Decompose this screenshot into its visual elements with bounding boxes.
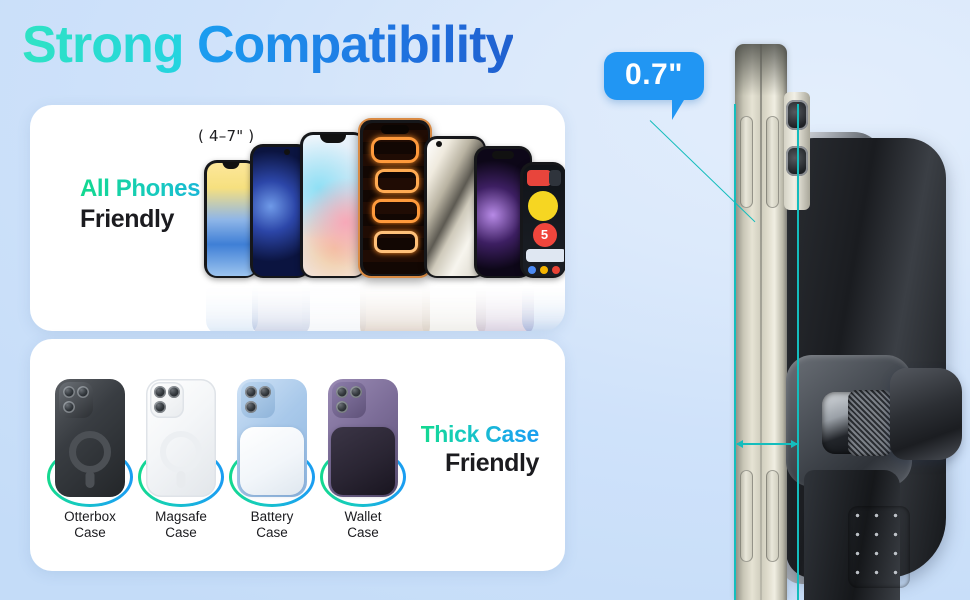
phone-screen: 5 xyxy=(523,165,564,276)
phone-fan-group: 5 xyxy=(190,127,565,302)
phone-screen xyxy=(207,163,256,276)
badge-tail-icon xyxy=(672,100,684,120)
neon-shape xyxy=(375,169,419,193)
app-icon xyxy=(528,266,536,274)
phone-screen xyxy=(303,135,364,276)
camera-lens-icon xyxy=(336,386,348,398)
card-thick-case: Otterbox Case Magsafe Case xyxy=(30,339,565,571)
case-label: Battery Case xyxy=(224,509,320,542)
case-item-battery: Battery Case xyxy=(224,379,320,542)
case-label-line2: Case xyxy=(133,525,229,541)
phone-dynamic-island-icon xyxy=(492,151,514,159)
side-button-icon xyxy=(740,470,753,562)
camera-lens-icon xyxy=(77,386,89,398)
case-label-line2: Case xyxy=(315,525,411,541)
volume-button-icon xyxy=(740,116,753,208)
app-icon xyxy=(540,266,548,274)
case-label-line1: Battery xyxy=(224,509,320,525)
phone-reflection xyxy=(522,286,565,331)
camera-lens-icon xyxy=(63,386,75,398)
phone-reflection xyxy=(360,282,430,331)
product-photo-mount-side-view: 0.7" xyxy=(590,0,970,600)
neon-shape xyxy=(371,137,419,163)
measure-line-left xyxy=(734,104,736,600)
widget-tile xyxy=(527,170,551,186)
battery-case-icon xyxy=(237,379,307,501)
otterbox-case-icon xyxy=(55,379,125,501)
camera-lens-icon xyxy=(154,401,166,413)
magsafe-bar-icon xyxy=(86,471,95,488)
battery-pack-icon xyxy=(240,427,304,495)
case-label-line1: Magsafe xyxy=(133,509,229,525)
case-label: Magsafe Case xyxy=(133,509,229,542)
case-label-line2: Case xyxy=(224,525,320,541)
card-all-phones: All Phones Friendly ( 4–7" ) xyxy=(30,105,565,331)
widget-tile xyxy=(549,170,561,186)
wallet-case-icon xyxy=(328,379,398,501)
measure-arrow xyxy=(737,443,797,445)
phone-reflection xyxy=(302,284,366,331)
phone-pastel xyxy=(300,132,366,278)
camera-lens-icon xyxy=(63,401,75,413)
neon-shape xyxy=(372,199,420,223)
page-title: Strong Compatibility xyxy=(22,16,513,76)
case-item-magsafe: Magsafe Case xyxy=(133,379,229,542)
case-label-line2: Case xyxy=(42,525,138,541)
widget-badge: 5 xyxy=(533,223,557,247)
magsafe-case-icon xyxy=(146,379,216,501)
phone-camera-dot-icon xyxy=(436,141,442,147)
neon-shape xyxy=(374,231,418,253)
mount-knob xyxy=(890,368,962,460)
phone-notch-icon xyxy=(320,134,346,143)
case-label-line1: Otterbox xyxy=(42,509,138,525)
camera-module-icon xyxy=(241,382,275,418)
measure-line-right xyxy=(797,104,799,600)
case-label: Wallet Case xyxy=(315,509,411,542)
phone-camera-dot-icon xyxy=(284,149,290,155)
thick-case-heading: Thick Case Friendly xyxy=(421,421,539,478)
thickness-badge: 0.7" xyxy=(604,52,704,100)
camera-lens-icon xyxy=(154,386,166,398)
case-item-otterbox: Otterbox Case xyxy=(42,379,138,542)
camera-module-icon xyxy=(332,382,366,418)
camera-module-icon xyxy=(150,382,184,418)
carbon-fiber-grip xyxy=(848,390,892,456)
side-button-icon xyxy=(766,470,779,562)
camera-lens-icon xyxy=(350,386,362,398)
widget-circle xyxy=(528,191,558,221)
phone-edge-seam xyxy=(760,44,762,600)
app-icon xyxy=(552,266,560,274)
phone-dynamic-island-icon xyxy=(381,125,409,134)
phone-android: 5 xyxy=(520,162,565,278)
phone-orange-neon xyxy=(358,118,432,278)
camera-lens-icon xyxy=(336,401,348,413)
title-part-compatibility: Compatibility xyxy=(197,16,513,74)
phone-screen xyxy=(363,123,428,274)
camera-module-icon xyxy=(59,382,93,418)
wallet-sleeve-icon xyxy=(331,427,395,495)
thick-case-plain-text: Friendly xyxy=(421,449,539,478)
case-label-line1: Wallet xyxy=(315,509,411,525)
camera-lens-icon xyxy=(259,386,271,398)
case-label: Otterbox Case xyxy=(42,509,138,542)
case-item-wallet: Wallet Case xyxy=(315,379,411,542)
mount-grip-pad xyxy=(848,506,910,588)
camera-lens-icon xyxy=(245,386,257,398)
magsafe-ring-icon xyxy=(69,431,111,473)
camera-lens-icon xyxy=(245,401,257,413)
magsafe-bar-icon xyxy=(177,471,186,488)
camera-lens-icon xyxy=(168,386,180,398)
dock-bar xyxy=(526,249,564,262)
poster-stage: Strong Compatibility All Phones Friendly… xyxy=(0,0,970,600)
thick-case-accent-text: Thick Case xyxy=(421,421,539,448)
volume-button-icon xyxy=(766,116,779,208)
title-part-strong: Strong xyxy=(22,16,184,74)
magsafe-ring-icon xyxy=(160,431,202,473)
phone-reflection xyxy=(206,286,258,331)
